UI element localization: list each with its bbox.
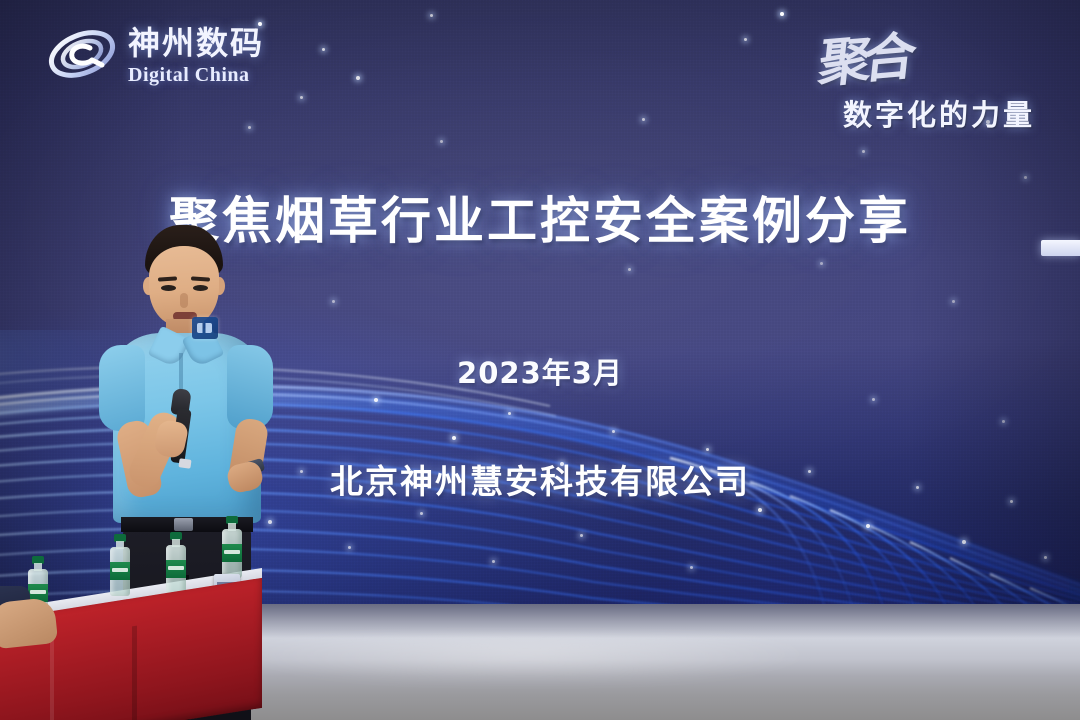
water-bottle [110, 534, 130, 596]
water-bottle [222, 516, 242, 578]
speaker-eye-left [161, 285, 176, 291]
microphone-tip-icon [178, 458, 191, 469]
campaign-calligraphy-block: 聚合 数字化的力量 [815, 18, 1070, 118]
brand-name-cn: 神州数码 [128, 27, 264, 59]
bottle-label [222, 544, 242, 562]
water-bottle [166, 532, 186, 594]
speaker-sleeve-left [99, 345, 145, 431]
speaker-chest-logo-icon [192, 317, 218, 339]
speaker-nose [180, 293, 188, 308]
floor-light-reflection [210, 636, 910, 682]
digital-china-swirl-icon [46, 21, 118, 87]
bottle-label [110, 562, 130, 580]
bottle-label [166, 560, 186, 578]
speaker-sleeve-right [227, 345, 273, 429]
stage-photo: 神州数码 Digital China 聚合 数字化的力量 聚焦烟草行业工控安全案… [0, 0, 1080, 720]
tablecloth-fold [132, 626, 137, 720]
brand-name-en: Digital China [128, 65, 264, 85]
campaign-tagline: 数字化的力量 [843, 92, 1035, 134]
campaign-calligraphy: 聚合 [815, 14, 912, 96]
speaker-eye-right [193, 285, 208, 291]
speaker-belt-buckle [174, 518, 193, 531]
audience-member-hand [0, 597, 58, 649]
digital-china-logo: 神州数码 Digital China [46, 14, 326, 94]
